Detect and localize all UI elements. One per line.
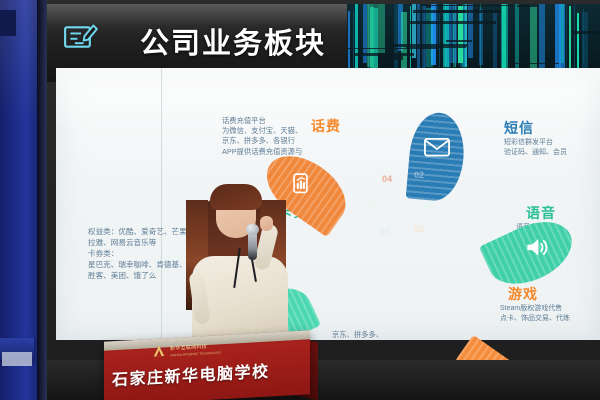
- banner-title: 公司业务板块: [140, 20, 326, 62]
- petal-number: 03: [414, 224, 424, 234]
- glitch-bar-horizontal: [406, 47, 466, 48]
- petal-number: 02: [414, 170, 424, 180]
- glitch-bar-horizontal: [424, 5, 514, 6]
- glitch-bar: [394, 4, 398, 75]
- screen-seam: [161, 68, 162, 340]
- glitch-bar: [479, 9, 483, 66]
- glitch-bar: [569, 6, 571, 76]
- petal-title-duanxin: 短信: [504, 118, 534, 138]
- petal-desc-duanxin: 短彩信群发平台 验证码、通知、会员: [504, 138, 567, 158]
- petal-number: 04: [382, 174, 392, 184]
- petal-desc-liuliang: 京东、拼多多、 充值资源与技术服务: [332, 330, 398, 340]
- glitch-bar: [458, 6, 463, 63]
- glitch-bar: [373, 4, 378, 74]
- petal-icon-envelope-icon: [424, 138, 450, 162]
- flower-diagram: $040203030405: [310, 108, 490, 288]
- school-logo-icon: [152, 344, 166, 359]
- glitch-bar-horizontal: [517, 5, 538, 7]
- glitch-bar-horizontal: [355, 53, 414, 56]
- petal-icon-speaker-icon: [525, 236, 549, 263]
- glitch-bar: [353, 11, 354, 68]
- glitch-bar-horizontal: [382, 56, 403, 60]
- glitch-bar: [367, 4, 373, 67]
- flower-petal-duanxin[interactable]: [406, 110, 467, 202]
- petal-number: 04: [380, 226, 390, 236]
- glitch-bar-horizontal: [512, 63, 560, 64]
- glitch-bar-horizontal: [413, 10, 466, 12]
- petal-number: 05: [368, 200, 378, 210]
- glitch-bar-horizontal: [410, 21, 496, 24]
- presenter-bangs: [210, 184, 262, 210]
- presenter: [176, 176, 306, 356]
- wall-frame-gap: [37, 0, 47, 400]
- left-wall-shelf-item: [2, 352, 32, 366]
- glitch-bar: [378, 4, 385, 53]
- left-wall-sign: [0, 10, 16, 36]
- microphone-head: [246, 224, 259, 235]
- presenter-hand: [260, 216, 273, 231]
- petal-desc-youxi: Steam版权游戏代售 点卡、饰品交易、代练: [500, 304, 570, 324]
- glitch-bar-horizontal: [573, 31, 600, 34]
- glitch-bar: [493, 6, 494, 61]
- glitch-bar: [583, 9, 584, 63]
- document-edit-icon: [63, 22, 99, 52]
- glitch-bar: [555, 4, 561, 69]
- petal-number: 03: [424, 200, 434, 210]
- screenshot-stage: 公司业务板块 话费充值平台 为微信、支付宝、天猫、 京东、拼多多、各银行 APP…: [0, 0, 600, 400]
- glitch-bar-horizontal: [446, 40, 472, 42]
- glitch-bar: [566, 5, 567, 69]
